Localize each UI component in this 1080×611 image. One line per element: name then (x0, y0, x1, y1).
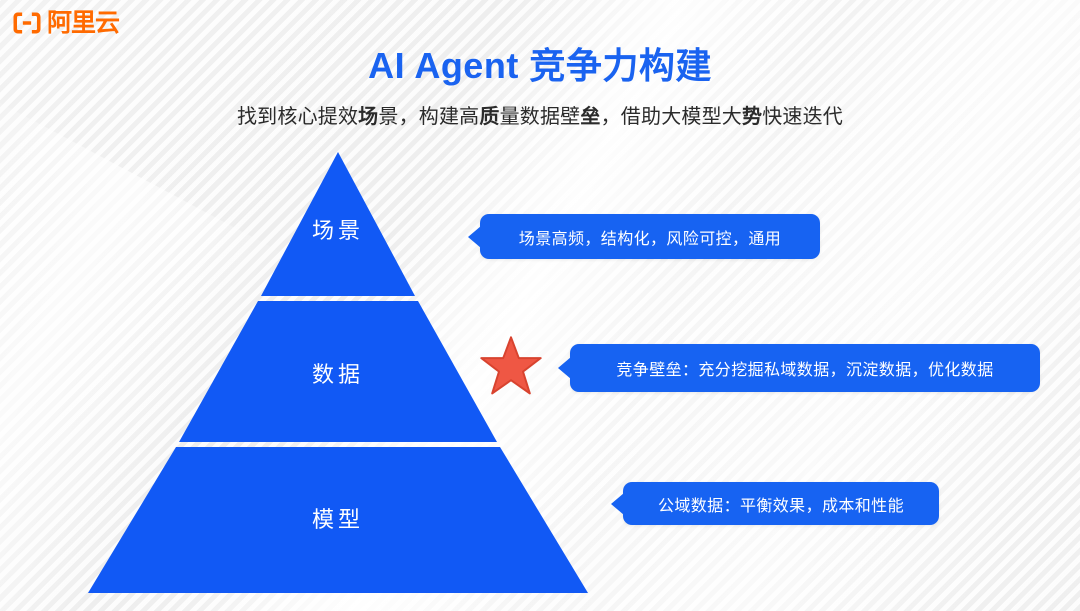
star-icon (477, 334, 545, 400)
star-icon-glyph (477, 334, 545, 400)
brand-logo: 阿里云 (12, 8, 119, 38)
pyramid-label-model: 模型 (258, 502, 418, 534)
pyramid-label-scene: 场景 (258, 213, 418, 245)
data-callout[interactable]: 竞争壁垒：充分挖掘私域数据，沉淀数据，优化数据 (570, 344, 1040, 392)
brand-logo-text: 阿里云 (47, 11, 119, 36)
pyramid-label-data: 数据 (258, 357, 418, 389)
scene-callout[interactable]: 场景高频，结构化，风险可控，通用 (480, 214, 820, 259)
slide-canvas: 阿里云 AI Agent 竞争力构建 找到核心提效场景，构建高质量数据壁垒，借助… (0, 0, 1080, 611)
alibaba-cloud-logo-icon (12, 8, 42, 38)
model-callout[interactable]: 公域数据：平衡效果，成本和性能 (623, 482, 939, 525)
